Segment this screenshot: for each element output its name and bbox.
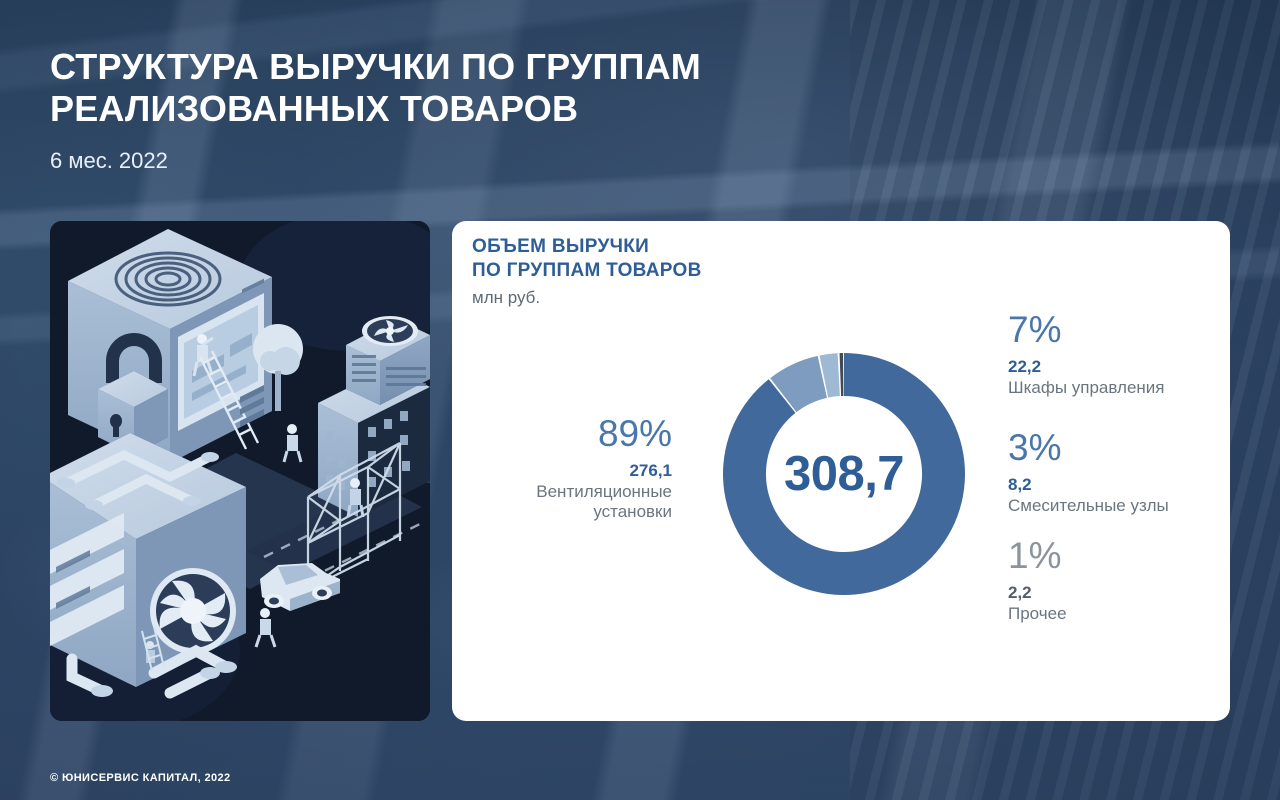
page-subtitle: 6 мес. 2022 [50, 148, 890, 174]
callout-label: Шкафы управления [1008, 378, 1228, 398]
callout-value: 2,2 [1008, 583, 1228, 603]
isometric-hvac-illustration [50, 221, 430, 721]
callout-ventilyacionnye-ustanovki: 89% 276,1 Вентиляционные установки [452, 415, 672, 523]
illustration-panel [50, 221, 430, 721]
callout-percent: 1% [1008, 537, 1228, 574]
callout-value: 276,1 [452, 461, 672, 481]
callout-prochee: 1% 2,2 Прочее [1008, 537, 1228, 624]
callout-label-line2: установки [593, 502, 672, 521]
copyright-footer: © ЮНИСЕРВИС КАПИТАЛ, 2022 [50, 772, 231, 784]
donut-center-total: 308,7 [723, 353, 965, 595]
revenue-donut-chart: 308,7 [723, 353, 965, 595]
page-title: СТРУКТУРА ВЫРУЧКИ ПО ГРУППАМ РЕАЛИЗОВАНН… [50, 46, 890, 131]
callout-label: Вентиляционные установки [452, 482, 672, 523]
callout-value: 8,2 [1008, 475, 1228, 495]
callout-shkafy-upravleniya: 7% 22,2 Шкафы управления [1008, 311, 1228, 398]
callout-percent: 3% [1008, 429, 1228, 466]
callout-label: Смесительные узлы [1008, 496, 1228, 516]
callout-percent: 89% [452, 415, 672, 452]
callout-label: Прочее [1008, 604, 1228, 624]
revenue-chart-card: ОБЪЕМ ВЫРУЧКИ ПО ГРУППАМ ТОВАРОВ млн руб… [452, 221, 1230, 721]
callout-percent: 7% [1008, 311, 1228, 348]
callout-smesitelnye-uzly: 3% 8,2 Смесительные узлы [1008, 429, 1228, 516]
callout-label-line1: Вентиляционные [536, 482, 672, 501]
slide-header: СТРУКТУРА ВЫРУЧКИ ПО ГРУППАМ РЕАЛИЗОВАНН… [50, 46, 890, 174]
card-title-line2: ПО ГРУППАМ ТОВАРОВ [472, 259, 702, 283]
card-header: ОБЪЕМ ВЫРУЧКИ ПО ГРУППАМ ТОВАРОВ млн руб… [472, 235, 702, 308]
card-title-line1: ОБЪЕМ ВЫРУЧКИ [472, 235, 702, 259]
callout-value: 22,2 [1008, 357, 1228, 377]
card-unit-label: млн руб. [472, 288, 702, 308]
